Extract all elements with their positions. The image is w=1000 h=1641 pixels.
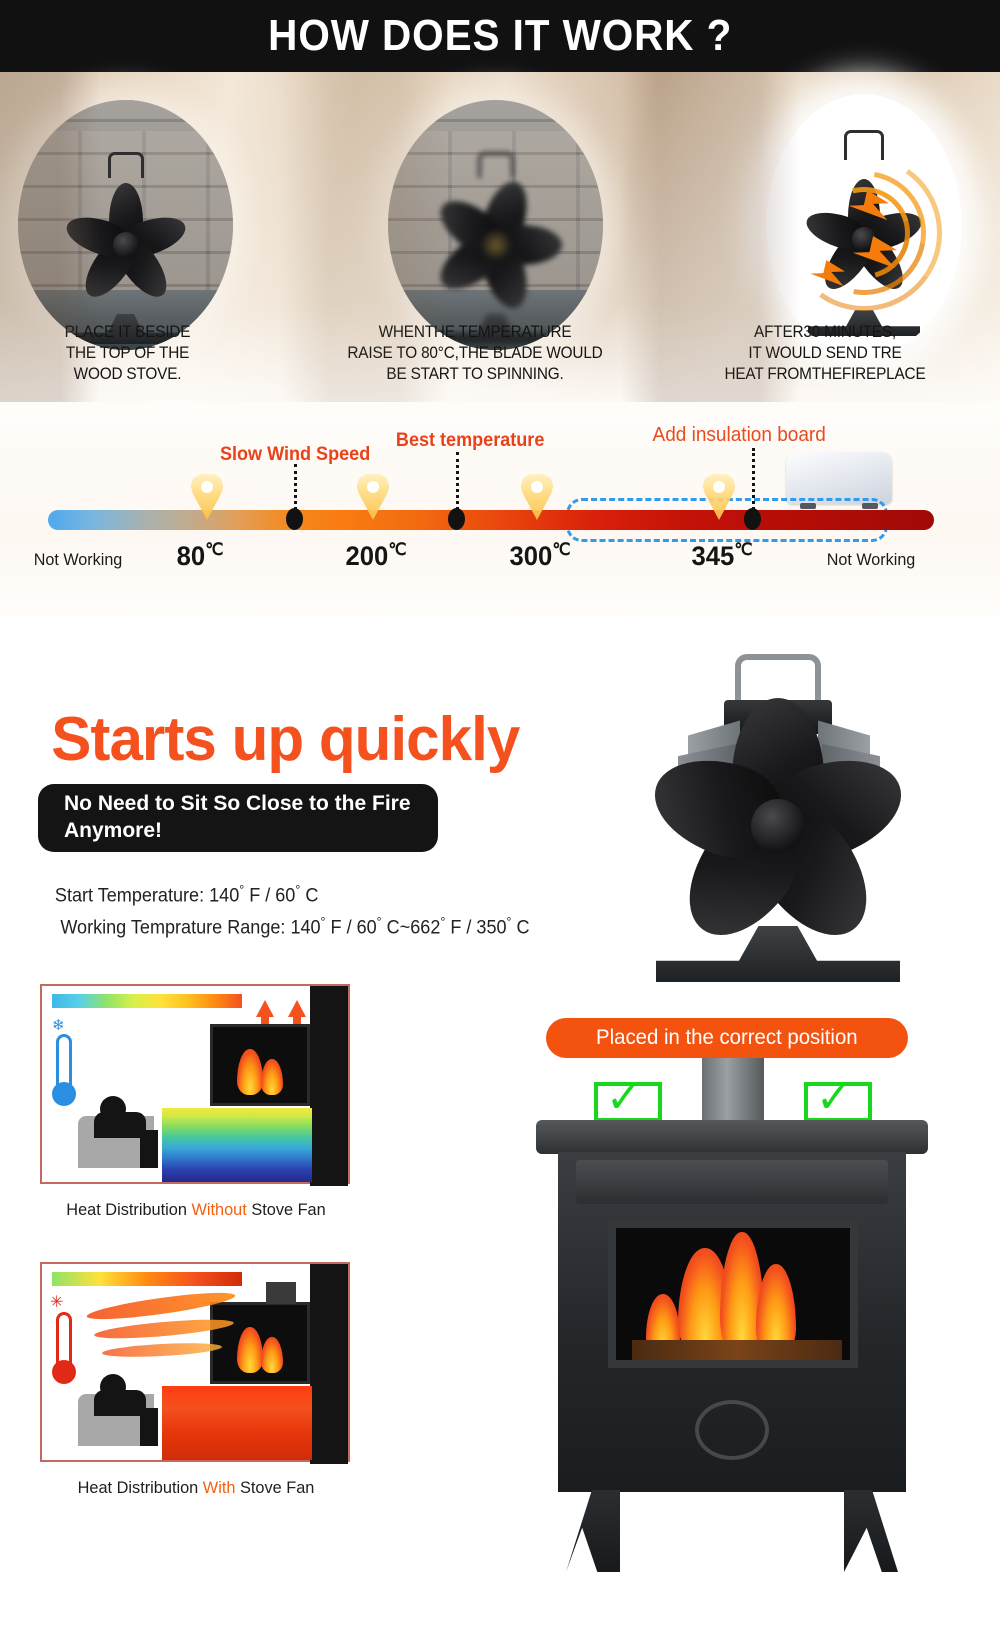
fan-blade (75, 235, 139, 305)
fan-base-plate (656, 926, 900, 982)
white-background (766, 94, 962, 356)
stove-fan-illustration (51, 170, 201, 320)
how-it-works-photo-band: PLACE IT BESIDE THE TOP OF THE WOOD STOV… (0, 72, 1000, 402)
temperature-gradient-bar (48, 510, 934, 530)
stove-fan-small-icon (266, 1282, 296, 1304)
fan-blade (430, 229, 507, 300)
caption-prefix: Heat Distribution (66, 1200, 191, 1219)
fan-blade (496, 225, 562, 265)
hearth-shadow (388, 328, 603, 351)
page-title: HOW DOES IT WORK ? (268, 11, 732, 61)
temp-tick-80-unit: ℃ (205, 540, 223, 559)
fan-blade (109, 183, 143, 245)
fan-blade (848, 179, 880, 239)
fan-base (72, 314, 180, 344)
spec-start-f-unit: F (249, 885, 260, 906)
temp-tick-200-value: 200 (346, 541, 389, 571)
fan-handle-icon (108, 152, 144, 178)
brick-wall-background (18, 100, 233, 350)
product-fan-image (578, 646, 978, 996)
spec-start-c: 60 (275, 885, 295, 906)
insulation-board-icon (786, 452, 892, 504)
temp-tick-345-unit: ℃ (734, 540, 752, 559)
heat-wave-arc (778, 147, 951, 320)
brick-wall-background (388, 100, 603, 350)
fan-handle-icon (844, 130, 884, 160)
fan-base (808, 310, 920, 336)
marker-best-temp (448, 508, 465, 530)
thermometer-icon (56, 1034, 72, 1086)
spec-working-range: Working Temprature Range: 140° F / 60° C… (60, 914, 529, 939)
wood-stove-image (536, 1108, 928, 1608)
flame-icon (237, 1049, 263, 1095)
temp-tick-345-value: 345 (692, 541, 735, 571)
fan-handle-icon (478, 152, 514, 178)
spec-range-low-f-unit: F (331, 917, 342, 938)
fan-carry-handle (735, 654, 821, 702)
stove-fire-window (608, 1220, 858, 1368)
marker-insulation (744, 508, 761, 530)
spec-slash-2: / (347, 917, 352, 938)
spec-slash-3: / (466, 917, 471, 938)
leader-line-best-temp (456, 452, 459, 516)
page-header: HOW DOES IT WORK ? (0, 0, 1000, 72)
spec-range-low-c: 60 (357, 917, 377, 938)
caption-suffix: Stove Fan (235, 1478, 314, 1497)
spec-range-label: Working Temprature Range: (60, 917, 285, 938)
temperature-color-key (52, 994, 242, 1008)
spec-slash-1: / (265, 885, 270, 906)
spec-range-high-c-unit: C (516, 917, 529, 938)
fan-blade (476, 176, 534, 251)
fan-base (442, 314, 550, 344)
caption-highlight: Without (191, 1200, 246, 1219)
fan-blade (61, 210, 130, 261)
fireplace (210, 1302, 310, 1384)
thermal-gradient-map (162, 1108, 312, 1182)
badge-label: No Need to Sit So Close to the Fire Anym… (64, 791, 412, 845)
flame-icon (261, 1337, 283, 1373)
sun-icon: ✳ (50, 1292, 63, 1312)
stove-fan-heat-illustration (789, 164, 939, 314)
fan-hub (852, 227, 876, 251)
person-torso (94, 1112, 146, 1138)
airflow-arrow (102, 1341, 222, 1359)
spec-start-temperature: Start Temperature: 140° F / 60° C (55, 882, 318, 907)
caption-highlight: With (203, 1478, 236, 1497)
caption-prefix: Heat Distribution (78, 1478, 203, 1497)
fan-blade (476, 239, 534, 314)
stove-top-plate (536, 1120, 928, 1154)
temp-tick-300-unit: ℃ (552, 540, 570, 559)
spec-start-label: Start Temperature: (55, 885, 204, 906)
stove-medallion (695, 1400, 769, 1460)
stove-decorative-band (576, 1160, 888, 1204)
spec-range-high-c: 350 (476, 917, 506, 938)
snowflake-icon: ❄ (52, 1016, 65, 1034)
caption-suffix: Stove Fan (247, 1200, 326, 1219)
fan-blade (859, 205, 926, 254)
fan-hub (113, 232, 139, 258)
flame-icon (261, 1059, 283, 1095)
temp-tick-300: 300℃ (474, 540, 607, 572)
spec-tilde: ~ (400, 917, 411, 938)
spec-range-low-f: 140 (290, 917, 320, 938)
stove-leg (844, 1490, 898, 1572)
no-need-to-sit-close-badge: No Need to Sit So Close to the Fire Anym… (38, 784, 438, 852)
spec-start-c-unit: C (305, 885, 318, 906)
correct-position-banner: Placed in the correct position (546, 1018, 908, 1058)
heat-bolt-icon (851, 236, 897, 268)
step-1-image (18, 100, 233, 350)
fan-blade (430, 190, 507, 261)
spec-range-low-c-unit: C (387, 917, 400, 938)
thermometer-bulb (52, 1360, 76, 1384)
temp-tick-300-value: 300 (510, 541, 553, 571)
spec-start-f: 140 (209, 885, 239, 906)
fan-hub (751, 799, 805, 853)
temp-tick-200-unit: ℃ (388, 540, 406, 559)
fan-hub (481, 230, 511, 260)
thermal-panel-without-fan: ❄ (40, 984, 350, 1184)
fan-blade (112, 235, 176, 305)
step-3-image (766, 94, 962, 356)
annotation-best-temperature: Best temperature (396, 430, 544, 452)
person-legs (140, 1130, 158, 1168)
step-3-caption: AFTER30 MINUTES, IT WOULD SEND TRE HEAT … (681, 322, 969, 385)
section-headline: Starts up quickly (51, 704, 519, 775)
heat-wave-arc (801, 170, 927, 296)
annotation-slow-wind-speed: Slow Wind Speed (220, 444, 370, 466)
step-2-caption: WHENTHE TEMPERATURE RAISE TO 80°C,THE BL… (312, 322, 638, 385)
thermometer-bulb (52, 1082, 76, 1106)
stove-leg (566, 1490, 620, 1572)
heat-wave-arc (774, 143, 955, 324)
spec-range-high-f-unit: F (450, 917, 461, 938)
spec-range-high-f: 662 (410, 917, 440, 938)
hearth-surface (388, 290, 603, 350)
person-legs (140, 1408, 158, 1446)
label-not-working-right: Not Working (800, 550, 943, 570)
person-torso (94, 1390, 146, 1416)
banner-label: Placed in the correct position (596, 1026, 858, 1050)
temp-tick-200: 200℃ (310, 540, 443, 572)
temp-tick-345: 345℃ (656, 540, 789, 572)
firewood-logs (632, 1340, 842, 1360)
thermometer-icon (56, 1312, 72, 1364)
flame-icon (237, 1327, 263, 1373)
hearth-surface (18, 290, 233, 350)
thermal-panel-with-fan: ✳ (40, 1262, 350, 1462)
temp-tick-80: 80℃ (143, 540, 257, 572)
heat-bolt-icon (847, 190, 889, 220)
stove-fan-spinning-illustration (421, 170, 571, 320)
heat-arrow-up-icon (256, 1000, 274, 1017)
fireplace (210, 1024, 310, 1106)
fan-blade (802, 205, 869, 254)
step-2-image (388, 100, 603, 350)
temperature-scale-section: Slow Wind Speed Best temperature Add ins… (0, 402, 1000, 616)
thermal-panel-without-fan-caption: Heat Distribution Without Stove Fan (23, 1200, 369, 1220)
heat-arrow-up-icon (288, 1000, 306, 1017)
hearth-shadow (18, 328, 233, 351)
fan-blade (851, 230, 912, 297)
temperature-color-key (52, 1272, 242, 1286)
starts-up-quickly-section: Starts up quickly No Need to Sit So Clos… (0, 616, 1000, 1036)
label-not-working-left: Not Working (12, 550, 145, 570)
chimney-wall (310, 1264, 348, 1464)
thermal-gradient-map (162, 1386, 312, 1460)
heat-bolt-icon (809, 260, 845, 286)
chimney-wall (310, 986, 348, 1186)
thermal-panel-with-fan-caption: Heat Distribution With Stove Fan (23, 1478, 369, 1498)
temp-tick-80-value: 80 (177, 541, 206, 571)
step-1-caption: PLACE IT BESIDE THE TOP OF THE WOOD STOV… (18, 322, 237, 385)
fan-blade (816, 230, 877, 297)
annotation-add-insulation-board: Add insulation board (653, 424, 826, 447)
fan-blade (120, 210, 189, 261)
marker-slow-wind (286, 508, 303, 530)
